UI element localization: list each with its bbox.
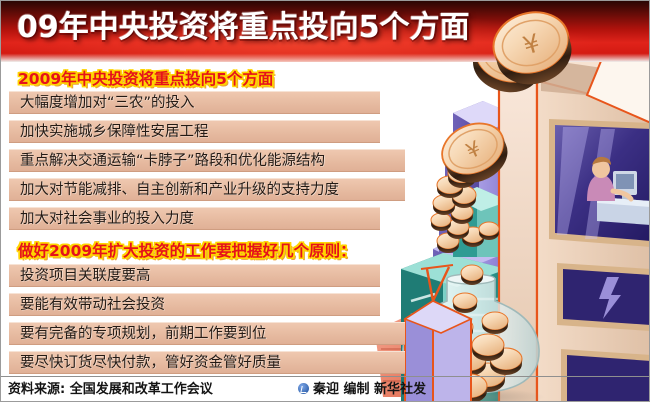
xinhua-logo-icon	[298, 383, 309, 394]
list-item-text: 加大对社会事业的投入力度	[20, 209, 194, 230]
list-item: 加大对社会事业的投入力度	[9, 207, 380, 230]
footer-source: 资料来源: 全国发展和改革工作会议	[8, 380, 213, 399]
list-item: 要尽快订货尽快付款，管好资金管好质量	[9, 351, 405, 374]
coin-medium: ¥	[434, 114, 516, 192]
section-heading-1: 2009年中央投资将重点投向5个方面	[18, 69, 273, 89]
tower-teal	[401, 187, 509, 402]
list-item: 大幅度增加对“三农”的投入	[9, 91, 380, 114]
list-item: 投资项目关联度要高	[9, 264, 380, 287]
list-item: 加快实施城乡保障性安居工程	[9, 120, 380, 143]
page-title: 09年中央投资将重点投向5个方面	[17, 8, 470, 48]
list-item: 加大对节能减排、自主创新和产业升级的支持力度	[9, 178, 405, 201]
building-window-office	[549, 119, 650, 247]
list-item: 要有完备的专项规划，前期工作要到位	[9, 322, 405, 345]
jar-coin-pile	[417, 265, 522, 402]
infographic-poster: ¥ ¥ ¥ ¥	[0, 0, 650, 402]
list-item: 重点解决交通运输“卡脖子”路段和优化能源结构	[9, 149, 405, 172]
footer-divider	[1, 376, 650, 377]
list-item-text: 要有完备的专项规划，前期工作要到位	[20, 324, 267, 345]
list-item-text: 要尽快订货尽快付款，管好资金管好质量	[20, 353, 281, 374]
list-item-text: 大幅度增加对“三农”的投入	[20, 93, 195, 114]
title-banner: 09年中央投资将重点投向5个方面	[1, 1, 650, 62]
list-item-text: 投资项目关联度要高	[20, 266, 151, 287]
office-building	[499, 45, 650, 402]
footer-credit: 秦迎 编制 新华社发	[298, 380, 426, 399]
building-window-lower-1	[557, 263, 650, 331]
list-item-text: 加快实施城乡保障性安居工程	[20, 122, 209, 143]
footer-credit-label: 秦迎 编制 新华社发	[313, 382, 426, 397]
list-item: 要能有效带动社会投资	[9, 293, 380, 316]
section-heading-2: 做好2009年扩大投资的工作要把握好几个原则：	[18, 241, 356, 261]
list-item-text: 重点解决交通运输“卡脖子”路段和优化能源结构	[20, 151, 325, 172]
svg-text:¥: ¥	[459, 167, 466, 180]
tower-cluster-purple	[433, 101, 525, 402]
list-item-text: 要能有效带动社会投资	[20, 295, 165, 316]
list-item-text: 加大对节能减排、自主创新和产业升级的支持力度	[20, 180, 339, 201]
svg-text:¥: ¥	[462, 136, 484, 163]
